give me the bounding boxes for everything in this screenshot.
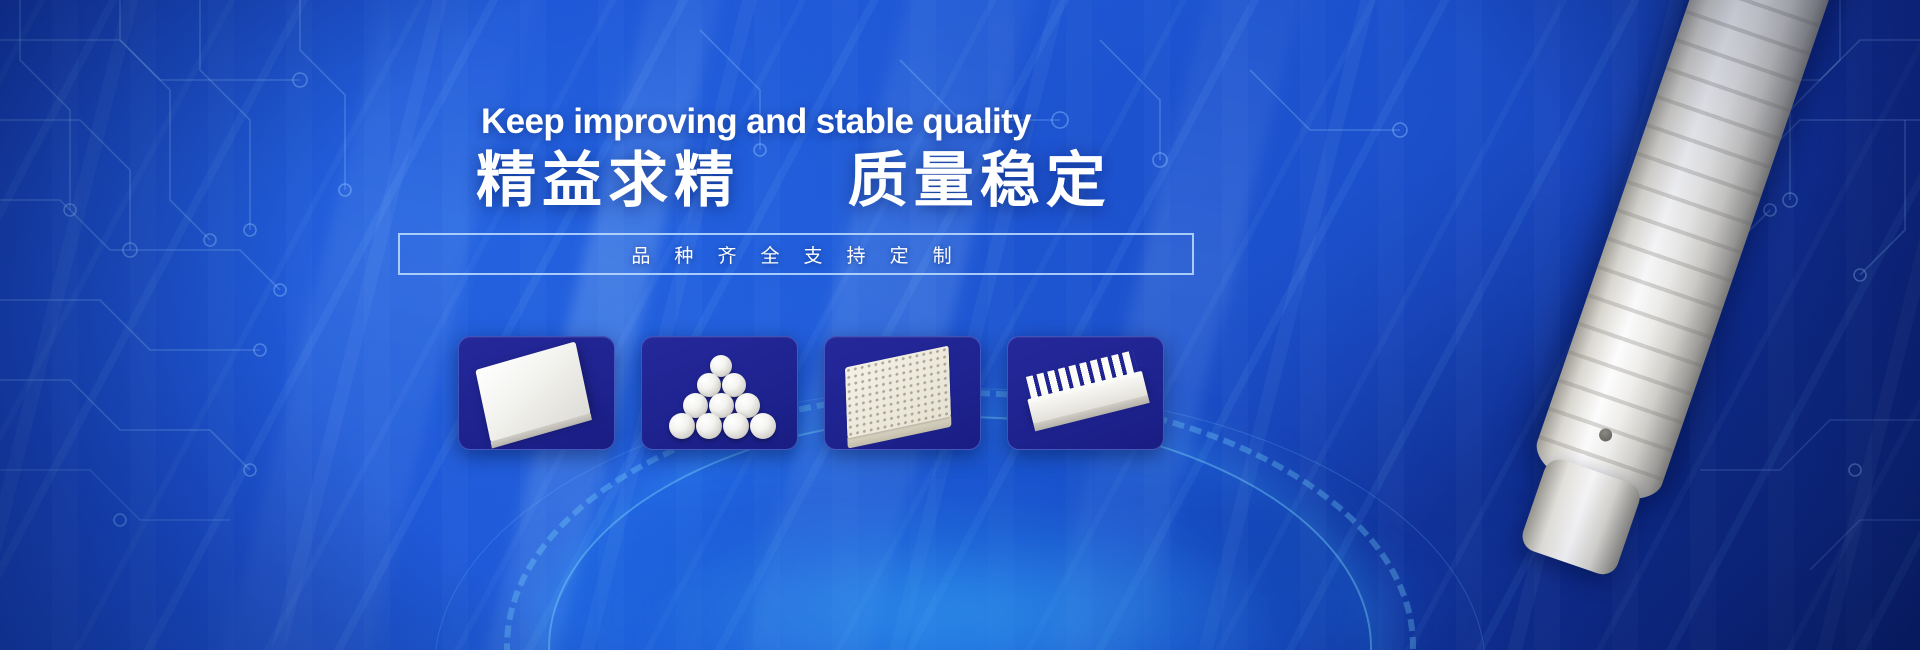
product-card-ceramic-tile[interactable] [458, 336, 615, 450]
product-banner: Keep improving and stable quality 精益求精 质… [0, 0, 1920, 650]
main-headline: 精益求精 质量稳定 [476, 150, 1176, 213]
tube-body [1528, 0, 1855, 512]
headline-block: Keep improving and stable quality 精益求精 质… [0, 0, 1200, 650]
subtitle-text: 品 种 齐 全 支 持 定 制 [631, 241, 960, 268]
product-card-honeycomb-ceramic[interactable] [824, 336, 981, 450]
headline-right-text: 质量稳定 [848, 146, 1112, 216]
honeycomb-ceramic-icon [845, 345, 951, 438]
product-card-list [458, 336, 1164, 450]
product-card-ceramic-comb[interactable] [1007, 336, 1164, 450]
ceramic-comb-icon [1022, 349, 1148, 424]
product-card-ceramic-balls[interactable] [641, 336, 798, 450]
subtitle-bar: 品 种 齐 全 支 持 定 制 [398, 233, 1194, 275]
ceramic-balls-icon [658, 353, 782, 437]
headline-left-text: 精益求精 [476, 146, 740, 216]
corrugated-ceramic-tube [1350, 0, 1920, 650]
english-tagline: Keep improving and stable quality [481, 104, 1121, 139]
ceramic-tile-icon [475, 341, 590, 442]
